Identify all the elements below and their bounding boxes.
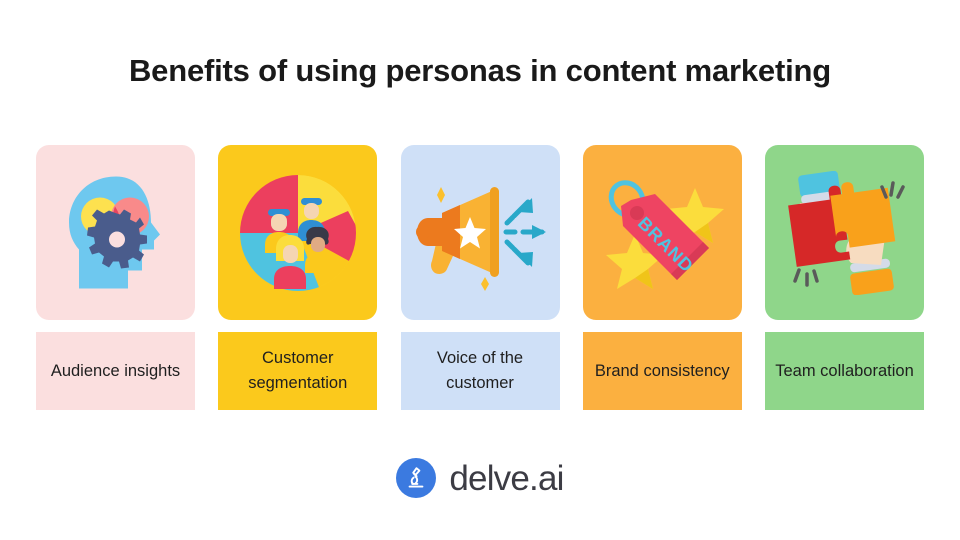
icon-tile-team-collaboration [765,145,924,320]
benefit-card-audience-insights[interactable]: Audience insights [36,145,195,410]
benefit-card-voice-of-the-customer[interactable]: Voice of the customer [401,145,560,410]
benefit-card-row: Audience insights [36,145,924,410]
page-title: Benefits of using personas in content ma… [0,52,960,89]
benefit-label-brand-consistency: Brand consistency [583,332,742,410]
infographic-canvas: Benefits of using personas in content ma… [0,0,960,540]
puzzle-hands-icon [781,171,909,295]
benefit-label-voice-of-the-customer: Voice of the customer [401,332,560,410]
head-with-gear-icon [56,170,176,295]
benefit-label-team-collaboration: Team collaboration [765,332,924,410]
benefit-label-customer-segmentation: Customer segmentation [218,332,377,410]
benefit-label-audience-insights: Audience insights [36,332,195,410]
icon-tile-brand-consistency: BRAND [583,145,742,320]
brand-footer: delve.ai [0,458,960,498]
pie-chart-people-icon [236,171,360,295]
icon-tile-customer-segmentation [218,145,377,320]
icon-tile-audience-insights [36,145,195,320]
logo-badge [396,458,436,498]
benefit-card-team-collaboration[interactable]: Team collaboration [765,145,924,410]
benefit-card-customer-segmentation[interactable]: Customer segmentation [218,145,377,410]
brand-name: delve.ai [449,461,563,496]
benefit-card-brand-consistency[interactable]: BRAND Brand consistency [583,145,742,410]
microscope-icon [403,465,429,491]
megaphone-with-arrows-icon [414,173,546,293]
icon-tile-voice-of-the-customer [401,145,560,320]
brand-tag-with-stars-icon: BRAND [599,172,725,294]
